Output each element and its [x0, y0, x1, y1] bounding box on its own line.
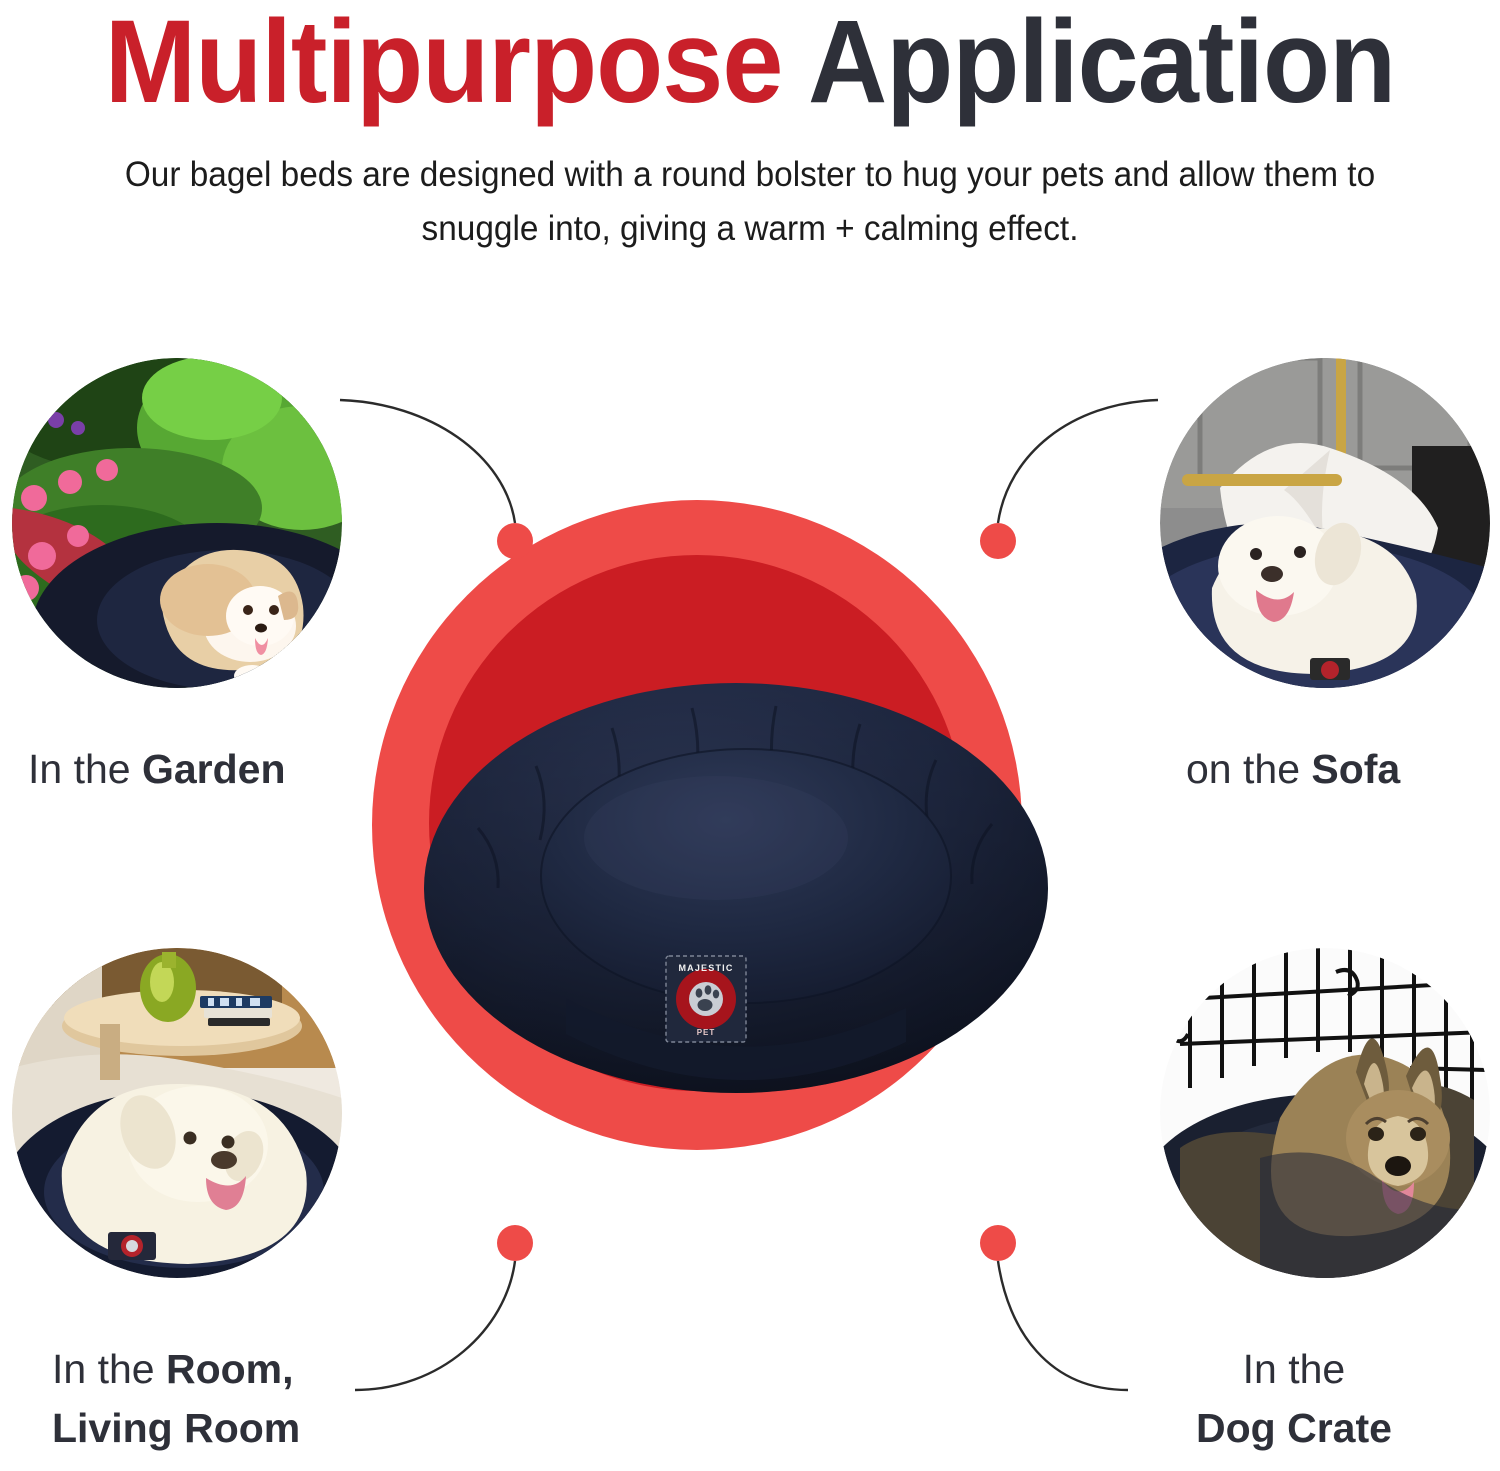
subtitle-line-1: Our bagel beds are designed with a round… — [73, 148, 1427, 202]
caption-living-room: In the Room, Living Room — [52, 1340, 300, 1459]
connector-dot-crate — [980, 1225, 1016, 1261]
caption-sofa-emphasis: Sofa — [1311, 746, 1400, 792]
header: Multipurpose Application Our bagel beds … — [0, 0, 1500, 256]
svg-text:MAJESTIC: MAJESTIC — [678, 963, 733, 973]
caption-room-line2: Living Room — [52, 1405, 300, 1451]
caption-sofa: on the Sofa — [1186, 740, 1400, 799]
photo-sofa — [1160, 358, 1490, 688]
caption-room-prefix: In the — [52, 1346, 166, 1392]
hero-product-circle: MAJESTIC PET — [372, 500, 1022, 1150]
multipurpose-application-infographic: Multipurpose Application Our bagel beds … — [0, 0, 1500, 1471]
caption-crate-line2: Dog Crate — [1196, 1399, 1392, 1458]
photo-dog-crate — [1160, 948, 1490, 1278]
caption-garden-emphasis: Garden — [142, 746, 286, 792]
page-subtitle: Our bagel beds are designed with a round… — [73, 148, 1427, 256]
connector-dot-room — [497, 1225, 533, 1261]
caption-crate-line1: In the — [1196, 1340, 1392, 1399]
caption-dog-crate: In the Dog Crate — [1196, 1340, 1392, 1459]
connector-dot-garden — [497, 523, 533, 559]
page-title: Multipurpose Application — [53, 2, 1448, 122]
title-red-part: Multipurpose — [105, 0, 783, 128]
photo-garden — [12, 358, 342, 688]
brand-tag: MAJESTIC PET — [666, 956, 746, 1042]
svg-text:PET: PET — [697, 1028, 716, 1037]
caption-garden: In the Garden — [28, 740, 286, 799]
title-dark-part: Application — [782, 0, 1395, 128]
connector-dot-sofa — [980, 523, 1016, 559]
subtitle-line-2: snuggle into, giving a warm + calming ef… — [73, 202, 1427, 256]
caption-room-emphasis: Room, — [166, 1346, 294, 1392]
product-dog-bed: MAJESTIC PET — [416, 638, 1056, 1108]
caption-sofa-prefix: on the — [1186, 746, 1311, 792]
photo-living-room — [12, 948, 342, 1278]
caption-garden-prefix: In the — [28, 746, 142, 792]
